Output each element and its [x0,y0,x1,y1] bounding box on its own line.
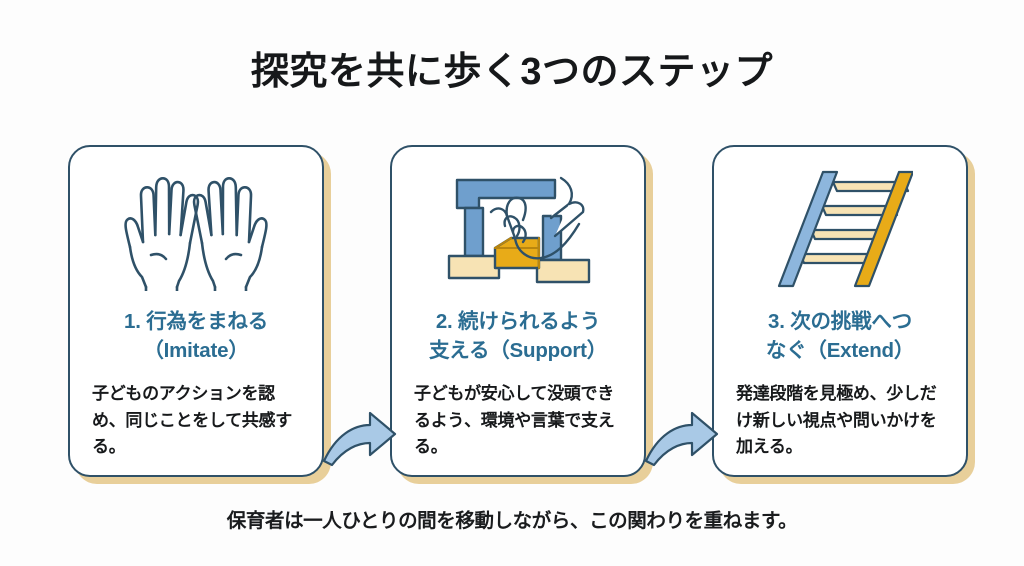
step-card-body: 子どもが安心して没頭できるよう、環境や言葉で支える。 [392,381,644,461]
step-card-imitate[interactable]: 1. 行為をまねる（Imitate） 子どものアクションを認め、同じことをして共… [68,145,324,477]
step-card-body: 子どものアクションを認め、同じことをして共感する。 [70,381,322,461]
slide-canvas: 探究を共に歩く3つのステップ [0,0,1024,566]
step-card-extend[interactable]: 3. 次の挑戦へつなぐ（Extend） 発達段階を見極め、少しだけ新しい視点や問… [712,145,968,477]
step-card-heading: 3. 次の挑戦へつなぐ（Extend） [714,307,966,365]
ladder-icon [714,165,966,295]
step-card-heading: 2. 続けられるよう支える（Support） [392,307,644,365]
step-card-support[interactable]: 2. 続けられるよう支える（Support） 子どもが安心して没頭できるよう、環… [390,145,646,477]
step-card-heading: 1. 行為をまねる（Imitate） [70,307,322,365]
two-open-hands-icon [70,165,322,295]
page-title: 探究を共に歩く3つのステップ [0,50,1024,96]
curved-arrow-right-icon [644,407,720,469]
steps-card-row: 1. 行為をまねる（Imitate） 子どものアクションを認め、同じことをして共… [0,145,1024,480]
hand-placing-block-icon [392,165,644,295]
step-card-body: 発達段階を見極め、少しだけ新しい視点や問いかけを加える。 [714,381,966,461]
curved-arrow-right-icon [322,407,398,469]
footer-caption: 保育者は一人ひとりの間を移動しながら、この関わりを重ねます。 [0,504,1024,533]
